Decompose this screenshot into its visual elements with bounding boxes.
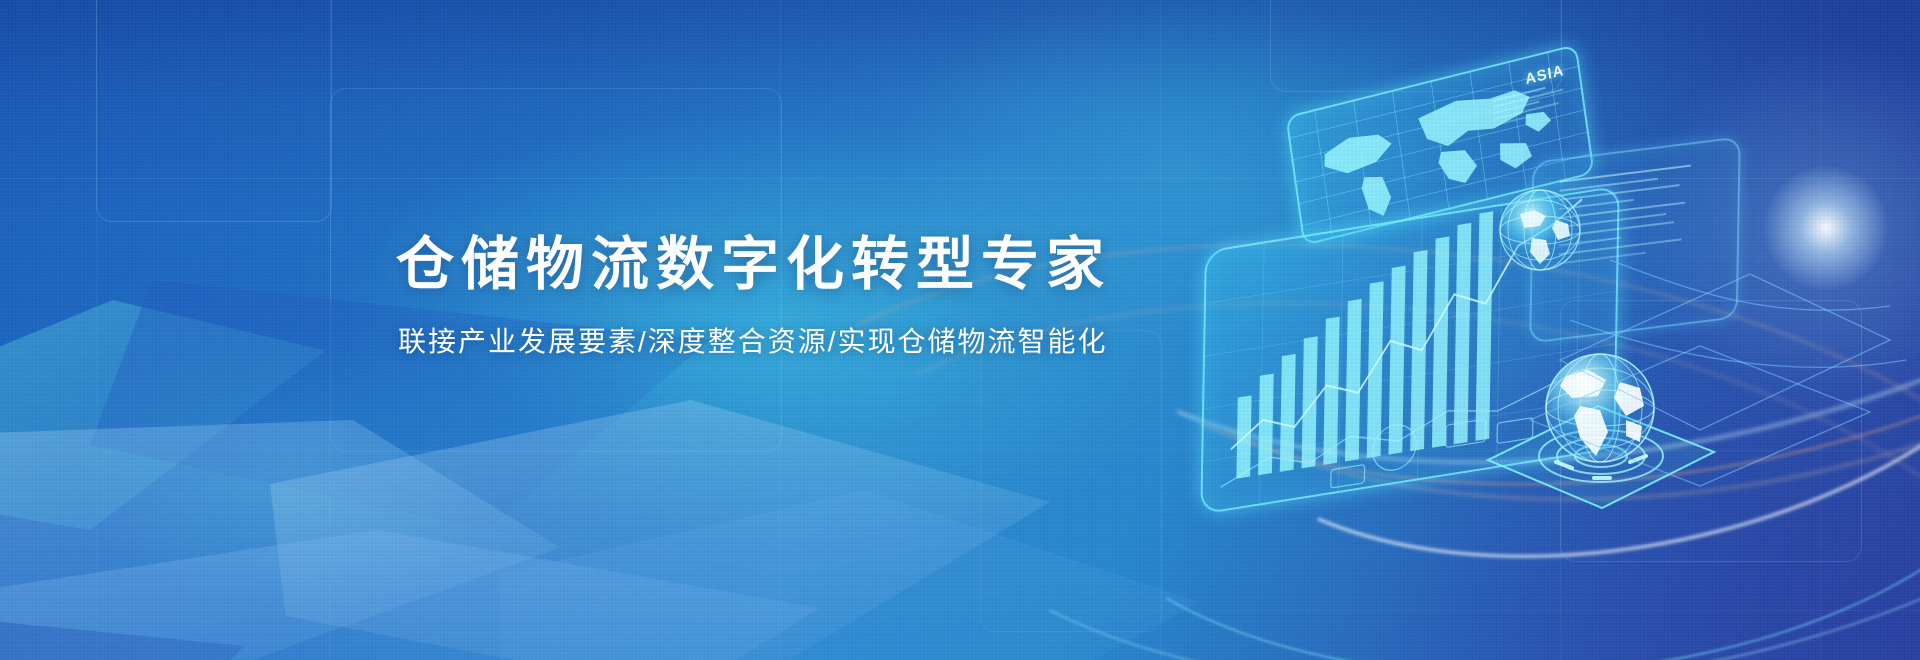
page-subtitle: 联接产业发展要素/深度整合资源/实现仓储物流智能化	[398, 322, 1376, 362]
hero-copy: 仓储物流数字化转型专家 联接产业发展要素/深度整合资源/实现仓储物流智能化	[396, 228, 1376, 362]
page-title: 仓储物流数字化转型专家	[396, 228, 1376, 302]
hero-banner: ASIA	[0, 0, 1920, 660]
